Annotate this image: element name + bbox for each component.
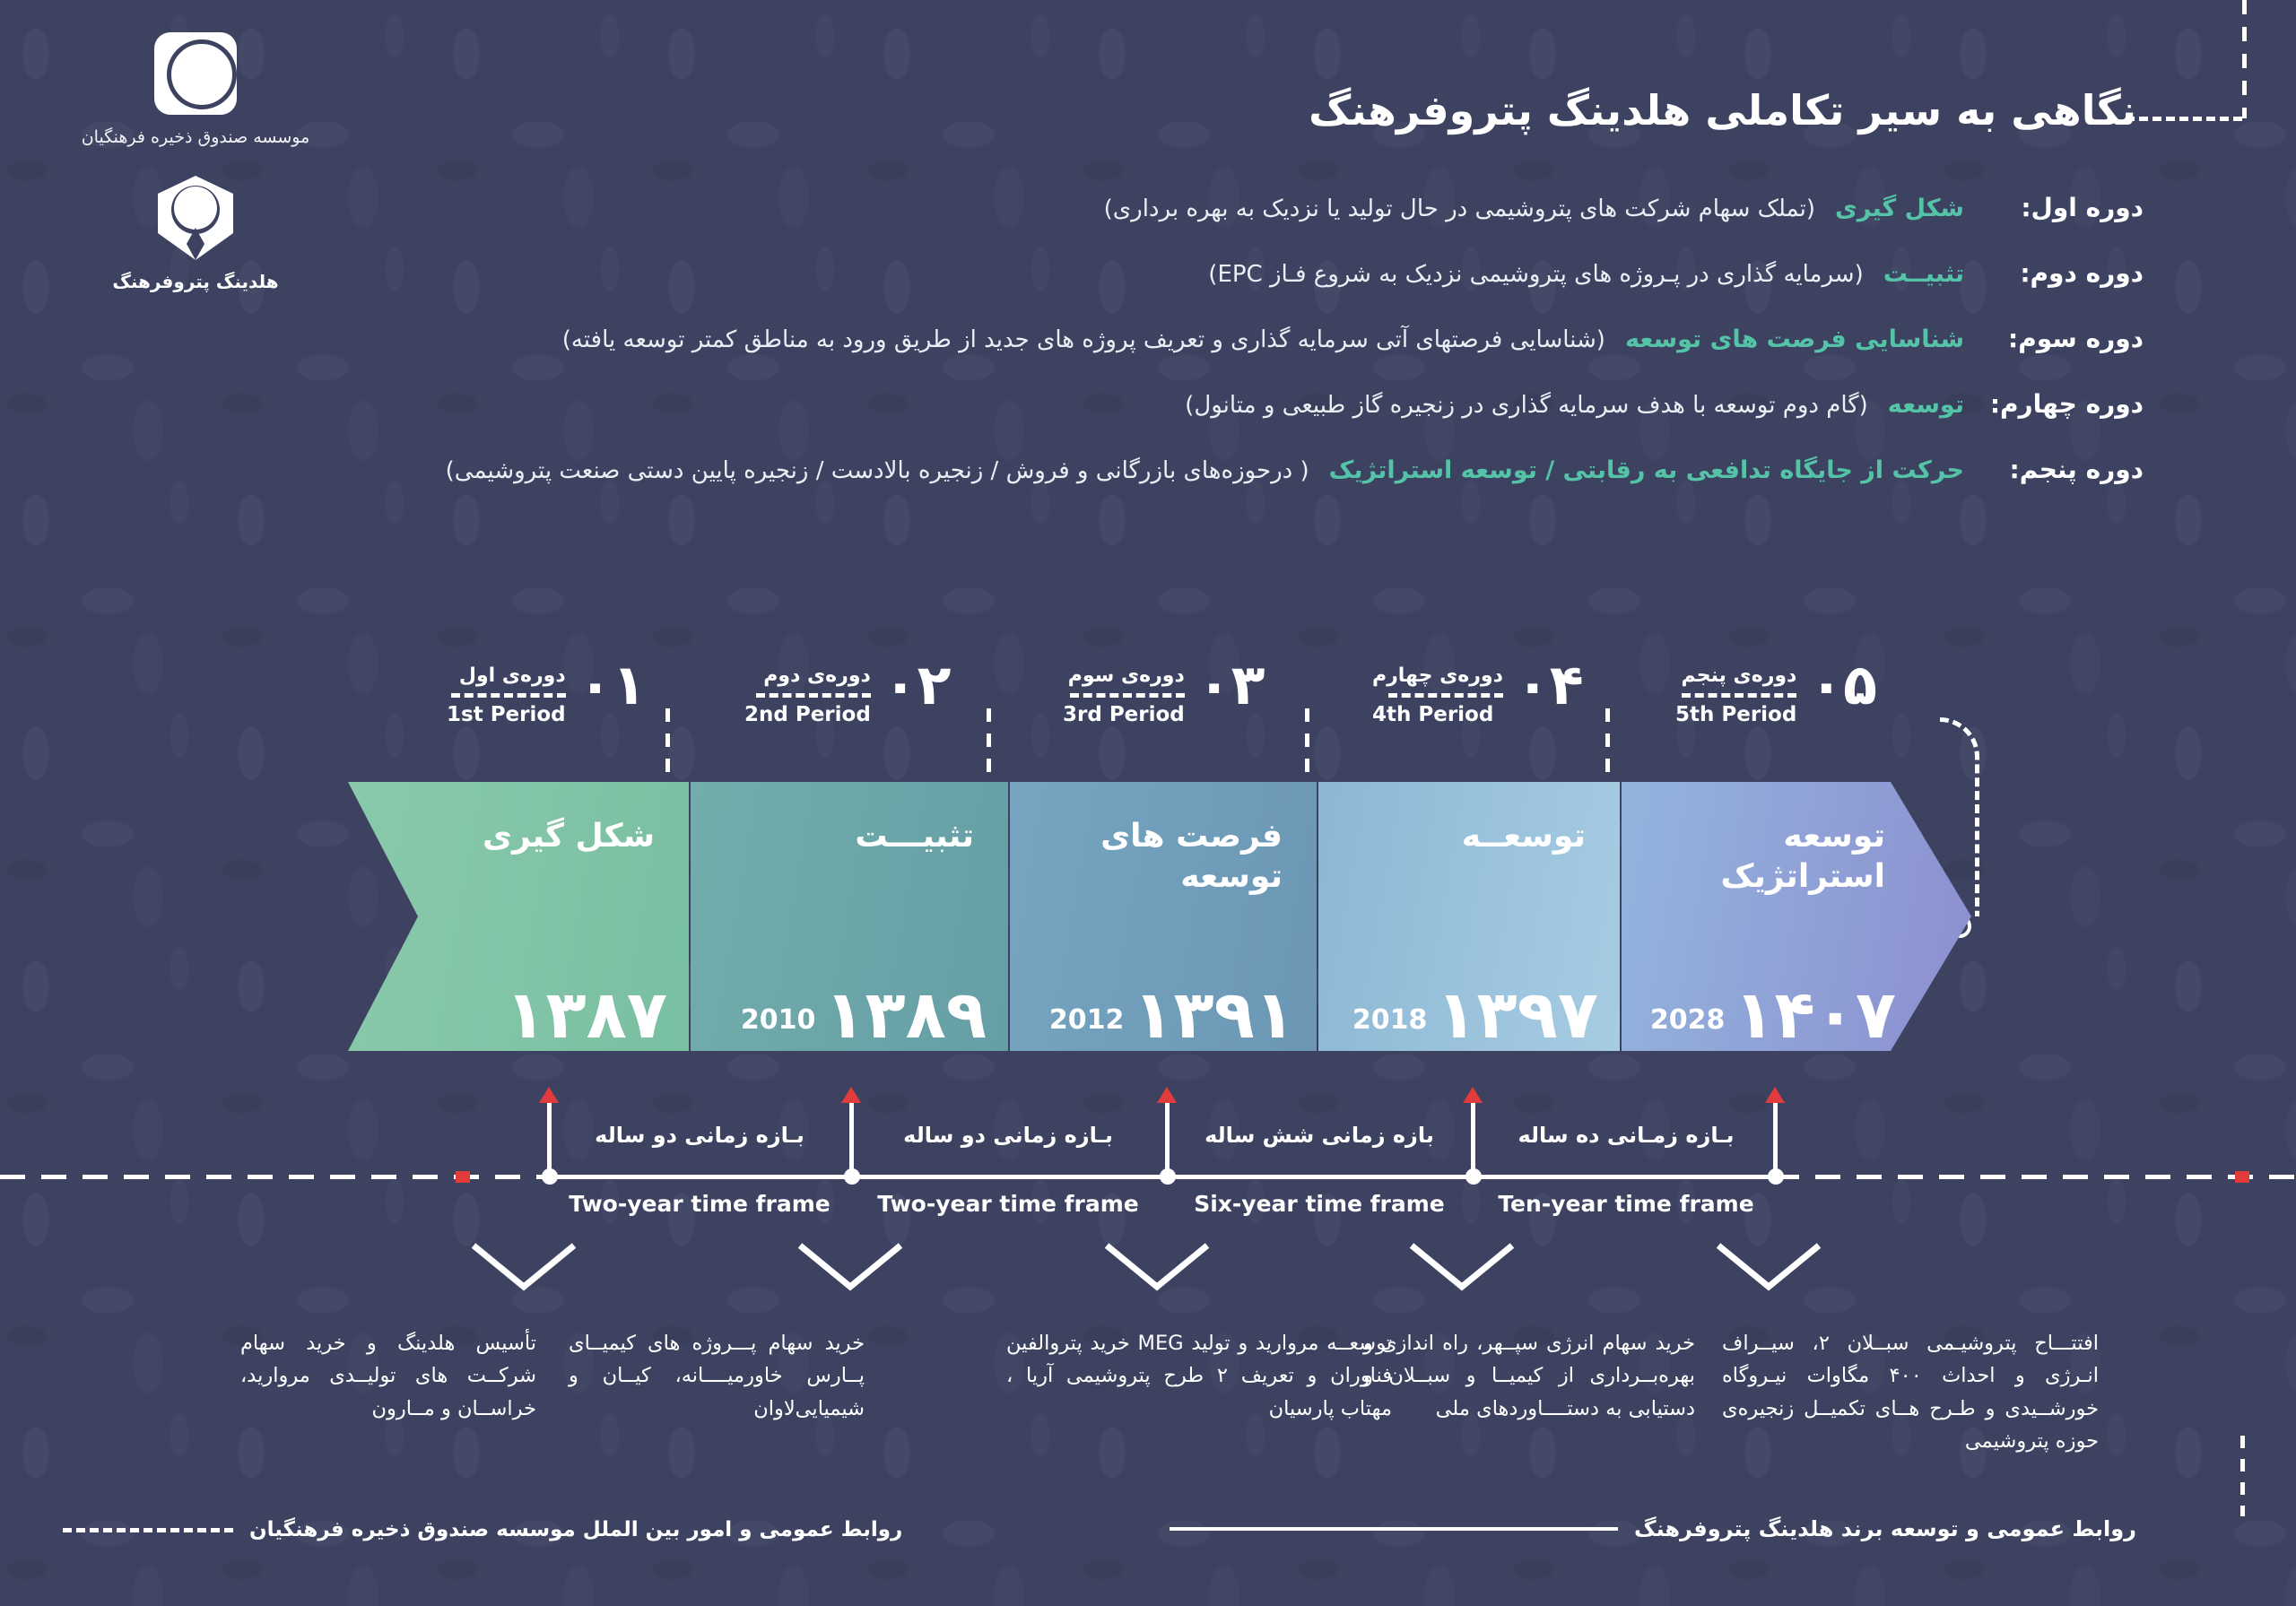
- footer-right-text: روابط عمومی و توسعه برند هلدینگ پتروفرهن…: [1634, 1516, 2136, 1541]
- period-marker-number: ۰۵: [1809, 659, 1877, 712]
- timeframe-arrow-stem: [849, 1103, 854, 1178]
- phase-year-fa: ۱۴۰۷: [1734, 987, 1896, 1044]
- period-marker-1: ۰۱ دوره‌ی اول 1st Period: [447, 659, 646, 726]
- timeframe-arrow-stem: [547, 1103, 552, 1178]
- note-period-3: توسعــه مروارید و تولید MEG خرید پتروالف…: [1006, 1327, 1392, 1425]
- phase-segment-5[interactable]: توسعه استراتژیک ۱۴۰۷ 2028: [1622, 782, 1971, 1051]
- period-marker-2: ۰۲ دوره‌ی دوم 2nd Period: [744, 659, 951, 726]
- period-legend-desc: ( درحوزه‌های بازرگانی و فروش / زنجیره با…: [446, 457, 1309, 484]
- phase-title: شکل گیری: [483, 816, 655, 856]
- timeframe-arrow-head: [539, 1087, 559, 1103]
- period-marker-drop-1: [665, 708, 670, 789]
- logo-sandoq-zakhire-farhangian: موسسه صندوق ذخیره فرهنگیان: [79, 32, 312, 147]
- phase-segment-2[interactable]: تثبیـــت ۱۳۸۹ 2010: [691, 782, 1008, 1051]
- period-legend-label: دوره دوم:: [1964, 258, 2144, 288]
- down-chevron-5: [1715, 1242, 1822, 1292]
- period-marker-en: 1st Period: [447, 703, 566, 726]
- note-period-1: تأسیس هلدینگ و خرید سهام شرکــت های تولی…: [240, 1327, 536, 1425]
- phase-segment-3[interactable]: فرصت های توسعه ۱۳۹۱ 2012: [1010, 782, 1317, 1051]
- phase-year-fa: ۱۳۹۷: [1436, 987, 1598, 1044]
- period-legend-desc: (شناسایی فرصتهای آتی سرمایه گذاری و تعری…: [562, 326, 1605, 353]
- period-marker-drop-2: [987, 708, 991, 789]
- phase-year-fa: ۱۳۸۹: [824, 987, 987, 1044]
- page-title: نگاهی به سیر تکاملی هلدینگ پتروفرهنگ: [1309, 86, 2136, 135]
- period-legend-key: توسعه: [1888, 391, 1964, 419]
- title-corner-line: [2242, 0, 2247, 118]
- timeframe-arrow-stem: [1471, 1103, 1475, 1178]
- period-marker-dash: [756, 693, 871, 698]
- timeframe-4: بـازه زمـانی ده ساله Ten-year time frame: [1489, 1123, 1763, 1217]
- phase-year-en: 2010: [741, 1004, 816, 1044]
- timeframe-fa: بـازه زمانی دو ساله: [868, 1123, 1148, 1148]
- period-marker-dash: [1682, 693, 1796, 698]
- down-chevron-2: [796, 1242, 904, 1292]
- timeframe-arrow-stem: [1165, 1103, 1170, 1178]
- timeframe-fa: بـازه زمانی دو ساله: [565, 1123, 834, 1148]
- period-legend-row: دوره دوم: تثبیــت (سرمایه گذاری در پـروژ…: [135, 258, 2144, 288]
- period-legend-desc: (تملک سهام شرکت های پتروشیمی در حال تولی…: [1104, 195, 1815, 222]
- timeline-axis: [0, 1175, 2296, 1180]
- timeframe-arrow-head: [841, 1087, 861, 1103]
- timeframe-en: Two-year time frame: [868, 1191, 1148, 1217]
- note-period-2: خرید سهام پـــروژه های کیمیــای پــارس خ…: [569, 1327, 865, 1425]
- sandoq-logo-caption: موسسه صندوق ذخیره فرهنگیان: [79, 127, 312, 147]
- timeframe-en: Ten-year time frame: [1489, 1191, 1763, 1217]
- axis-red-tick: [2235, 1171, 2249, 1183]
- down-chevron-3: [1103, 1242, 1211, 1292]
- period-legend-label: دوره چهارم:: [1964, 389, 2144, 419]
- period-marker-fa: دوره‌ی چهارم: [1372, 664, 1503, 687]
- period-marker-number: ۰۳: [1197, 659, 1265, 712]
- period-legend-key: شکل گیری: [1835, 195, 1964, 222]
- period-marker-en: 2nd Period: [744, 703, 871, 726]
- sandoq-logo-icon: [154, 32, 237, 115]
- period-legend-row: دوره چهارم: توسعه (گام دوم توسعه با هدف …: [135, 389, 2144, 419]
- period-legend-key: حرکت از جایگاه تدافعی به رقابتی / توسعه …: [1329, 456, 1964, 484]
- axis-red-tick: [456, 1171, 470, 1183]
- phase-year-en: 2012: [1049, 1004, 1125, 1044]
- timeframe-3: بازه زمانی شش ساله Six-year time frame: [1182, 1123, 1457, 1217]
- timeframe-en: Two-year time frame: [565, 1191, 834, 1217]
- footer-left-text: روابط عمومی و امور بین الملل موسسه صندوق…: [249, 1518, 902, 1541]
- period-marker-4: ۰۴ دوره‌ی چهارم 4th Period: [1372, 659, 1584, 726]
- period-marker-en: 3rd Period: [1063, 703, 1185, 726]
- period-marker-number: ۰۱: [578, 659, 647, 712]
- phase-title: توسعه استراتژیک: [1721, 816, 1885, 897]
- period-legend-row: دوره سوم: شناسایی فرصت های توسعه (شناسای…: [135, 324, 2144, 353]
- timeframe-fa: بـازه زمـانی ده ساله: [1489, 1123, 1763, 1148]
- period-legend-row: دوره اول: شکل گیری (تملک سهام شرکت های پ…: [135, 193, 2144, 222]
- phase-title: توسعــه: [1462, 816, 1586, 856]
- note-period-5: افتتـــاح پتروشیـمی سبــلان ۲، سیــراف ا…: [1722, 1327, 2099, 1458]
- timeframe-arrow-head: [1765, 1087, 1785, 1103]
- phase-year-fa: ۱۳۸۷: [505, 987, 667, 1044]
- phase-banner: شکل گیری ۱۳۸۷ تثبیـــت ۱۳۸۹ 2010 فرصت ها…: [348, 782, 1971, 1051]
- phase-year-en: 2018: [1352, 1004, 1428, 1044]
- timeframe-arrow-stem: [1773, 1103, 1778, 1178]
- period-legend-desc: (گام دوم توسعه با هدف سرمایه گذاری در زن…: [1185, 392, 1868, 419]
- footer-right-rule: [1170, 1527, 1618, 1531]
- note-period-4: خرید سهام انرژی سپــهر، راه اندازی و بهر…: [1363, 1327, 1695, 1425]
- period-marker-5: ۰۵ دوره‌ی پنجم 5th Period: [1675, 659, 1877, 726]
- down-chevron-4: [1408, 1242, 1516, 1292]
- period-legend-label: دوره سوم:: [1964, 324, 2144, 353]
- footer-corner-dashes: [2240, 1436, 2245, 1516]
- period-marker-fa: دوره‌ی سوم: [1063, 664, 1185, 687]
- timeframe-2: بـازه زمانی دو ساله Two-year time frame: [868, 1123, 1148, 1217]
- period-legend-list: دوره اول: شکل گیری (تملک سهام شرکت های پ…: [135, 193, 2144, 520]
- period-legend-key: تثبیــت: [1883, 260, 1964, 288]
- period-marker-fa: دوره‌ی پنجم: [1675, 664, 1796, 687]
- period-marker-dash: [451, 693, 566, 698]
- phase-year-en: 2028: [1650, 1004, 1726, 1044]
- period-marker-dash: [1388, 693, 1503, 698]
- period-marker-fa: دوره‌ی دوم: [744, 664, 871, 687]
- period-marker-number: ۰۴: [1516, 659, 1584, 712]
- period-legend-label: دوره اول:: [1964, 193, 2144, 222]
- phase-segment-4[interactable]: توسعــه ۱۳۹۷ 2018: [1318, 782, 1620, 1051]
- period-marker-drop-4: [1605, 708, 1610, 789]
- footer-left: روابط عمومی و امور بین الملل موسسه صندوق…: [63, 1518, 902, 1541]
- phase-segment-1[interactable]: شکل گیری ۱۳۸۷: [348, 782, 689, 1051]
- period-marker-fa: دوره‌ی اول: [447, 664, 566, 687]
- period-legend-key: شناسایی فرصت های توسعه: [1625, 326, 1964, 353]
- footer-left-rule: [63, 1528, 233, 1532]
- timeframe-fa: بازه زمانی شش ساله: [1182, 1123, 1457, 1148]
- title-dash-line: [2126, 117, 2242, 121]
- period-marker-en: 4th Period: [1372, 703, 1503, 726]
- timeframe-en: Six-year time frame: [1182, 1191, 1457, 1217]
- period-marker-dash: [1070, 693, 1185, 698]
- phase-title: فرصت های توسعه: [1100, 816, 1283, 897]
- phase-year-fa: ۱۳۹۱: [1133, 987, 1295, 1044]
- period-marker-en: 5th Period: [1675, 703, 1796, 726]
- period-legend-desc: (سرمایه گذاری در پـروژه های پتروشیمی نزد…: [1208, 261, 1863, 288]
- period-legend-label: دوره پنجم:: [1964, 455, 2144, 484]
- phase-title: تثبیـــت: [855, 816, 974, 856]
- period-marker-drop-3: [1305, 708, 1309, 789]
- timeframe-arrow-head: [1157, 1087, 1177, 1103]
- timeframe-arrow-head: [1463, 1087, 1483, 1103]
- footer-right: روابط عمومی و توسعه برند هلدینگ پتروفرهن…: [1170, 1516, 2136, 1541]
- period-marker-number: ۰۲: [883, 659, 952, 712]
- down-chevron-1: [470, 1242, 578, 1292]
- timeframe-1: بـازه زمانی دو ساله Two-year time frame: [565, 1123, 834, 1217]
- period-marker-3: ۰۳ دوره‌ی سوم 3rd Period: [1063, 659, 1265, 726]
- period-legend-row: دوره پنجم: حرکت از جایگاه تدافعی به رقاب…: [135, 455, 2144, 484]
